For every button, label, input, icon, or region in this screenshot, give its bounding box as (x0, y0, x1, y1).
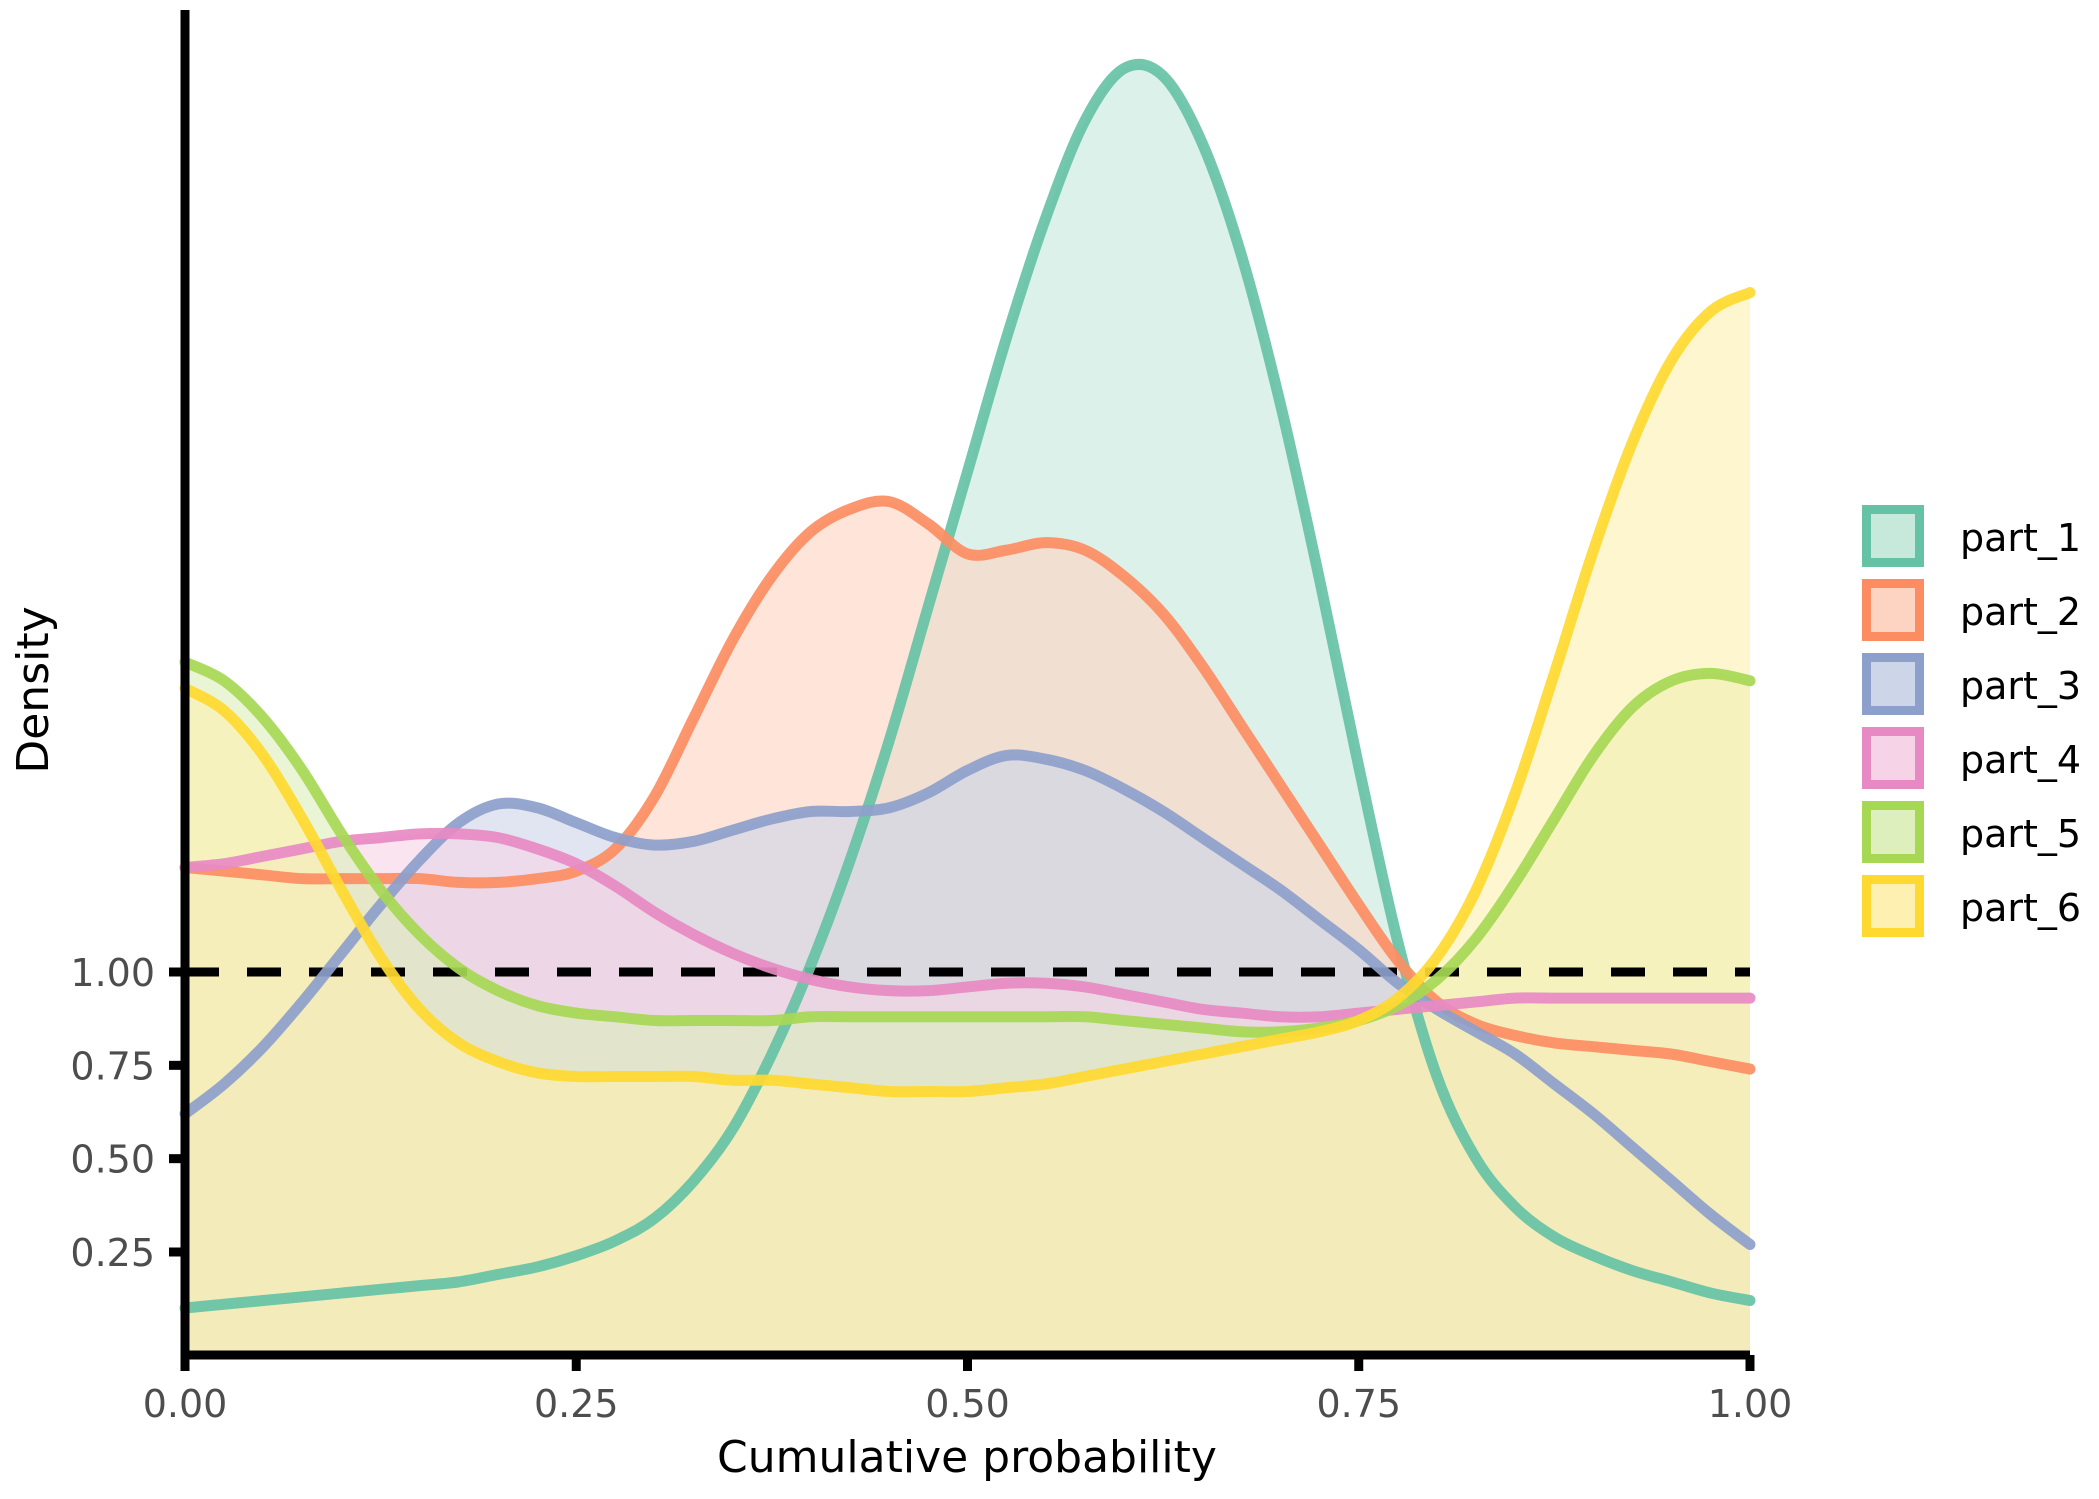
legend: part_1part_2part_3part_4part_5part_6 (1862, 505, 2081, 937)
y-tick-label: 0.75 (70, 1044, 155, 1088)
y-axis-ticks: 0.250.500.751.00 (70, 951, 185, 1275)
legend-swatch-fill-part_5 (1871, 810, 1915, 854)
series-fills (185, 64, 1750, 1355)
legend-swatch-fill-part_3 (1871, 662, 1915, 706)
legend-swatch-fill-part_1 (1871, 514, 1915, 558)
legend-label-part_5: part_5 (1960, 812, 2081, 856)
y-axis-title: Density (8, 606, 59, 773)
x-tick-label: 1.00 (1708, 1382, 1793, 1426)
y-tick-label: 0.25 (70, 1231, 155, 1275)
x-axis-title: Cumulative probability (717, 1432, 1217, 1483)
x-tick-label: 0.00 (143, 1382, 228, 1426)
x-tick-label: 0.75 (1316, 1382, 1401, 1426)
legend-swatch-fill-part_6 (1871, 884, 1915, 928)
x-tick-label: 0.25 (534, 1382, 619, 1426)
density-plot: 0.000.250.500.751.00 0.250.500.751.00 pa… (0, 0, 2099, 1499)
legend-label-part_4: part_4 (1960, 738, 2081, 782)
x-axis-ticks: 0.000.250.500.751.00 (143, 1355, 1793, 1426)
y-tick-label: 1.00 (70, 951, 155, 995)
chart-root: 0.000.250.500.751.00 0.250.500.751.00 pa… (0, 0, 2099, 1499)
legend-label-part_2: part_2 (1960, 590, 2081, 634)
legend-swatch-fill-part_2 (1871, 588, 1915, 632)
legend-label-part_1: part_1 (1960, 516, 2081, 560)
legend-label-part_6: part_6 (1960, 886, 2081, 930)
x-tick-label: 0.50 (925, 1382, 1010, 1426)
legend-label-part_3: part_3 (1960, 664, 2081, 708)
legend-swatch-fill-part_4 (1871, 736, 1915, 780)
y-tick-label: 0.50 (70, 1138, 155, 1182)
